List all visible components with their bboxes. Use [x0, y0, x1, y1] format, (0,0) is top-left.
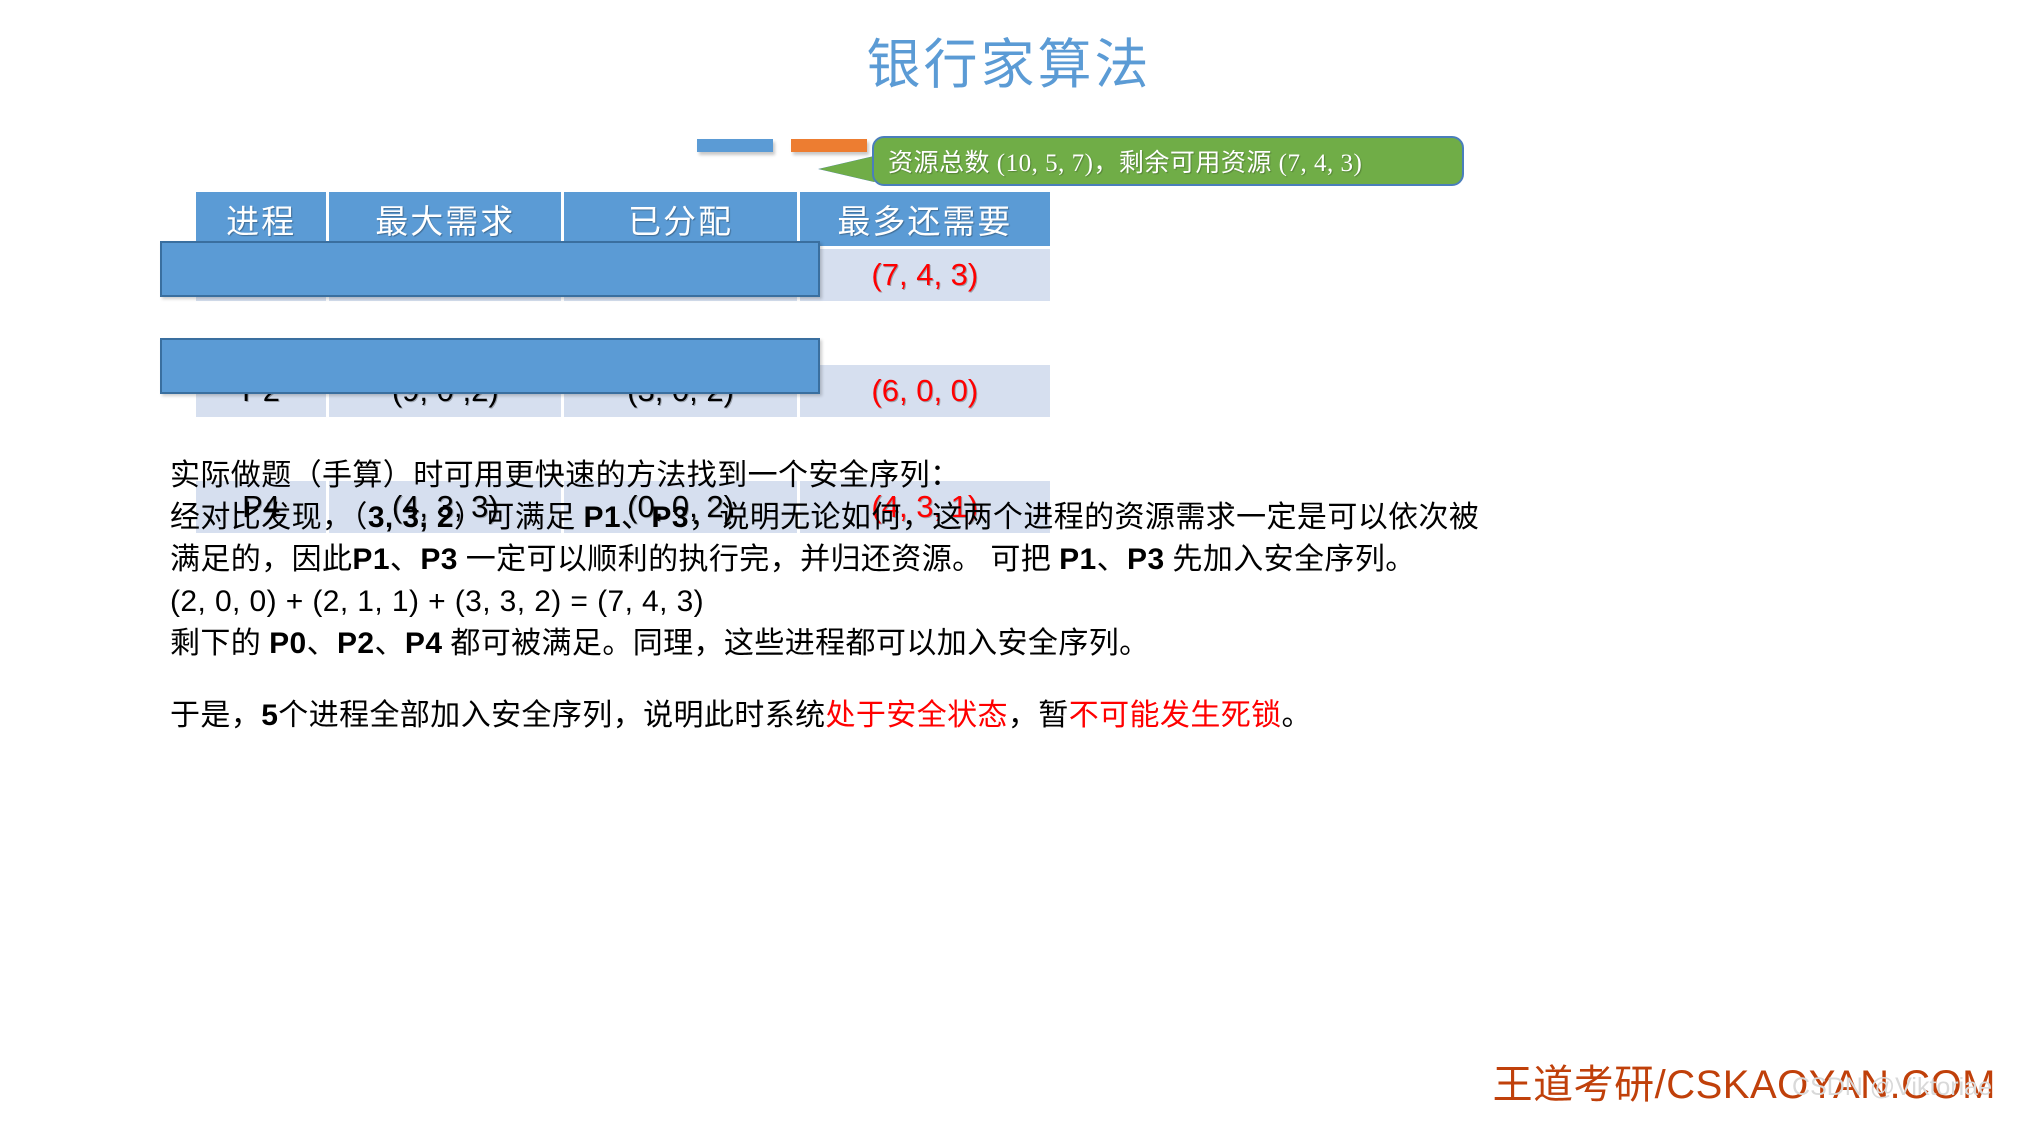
callout-text: 资源总数 (10, 5, 7)，剩余可用资源 (7, 4, 3): [888, 143, 1362, 179]
body-line-6-safe-state: 处于安全状态: [826, 699, 1008, 732]
body-line-4-equation: (2, 0, 0) + (2, 1, 1) + (3, 3, 2) = (7, …: [170, 585, 704, 618]
body-line-3-g: 、: [1097, 543, 1127, 576]
csdn-watermark: CSDN @Viktoriae: [1792, 1073, 1992, 1102]
table-header-row: 进程 最大需求 已分配 最多还需要: [196, 192, 1050, 246]
column-header-process: 进程: [196, 192, 326, 246]
body-line-2-p3: P3: [651, 501, 689, 534]
body-line-5-p0: P0: [269, 627, 307, 660]
body-line-6-a: 于是，: [170, 699, 261, 732]
column-header-allocated: 已分配: [564, 192, 796, 246]
cover-rectangle-p3: [160, 338, 820, 394]
body-line-6: 于是，5个进程全部加入安全序列，说明此时系统处于安全状态，暂不可能发生死锁。: [170, 695, 1870, 737]
column-header-max-need: 最大需求: [329, 192, 561, 246]
body-line-6-count: 5: [261, 699, 278, 732]
body-line-6-e: ，暂: [1008, 699, 1069, 732]
body-line-6-no-deadlock: 不可能发生死锁: [1069, 699, 1282, 732]
body-line-2-g: ，说明无论如何，这两个进程的资源需求一定是可以依次被: [689, 501, 1479, 534]
accent-bar-blue-light: [697, 139, 773, 152]
cell-still-needed: (6, 0, 0): [800, 365, 1050, 417]
body-line-5: 剩下的 P0、P2、P4 都可被满足。同理，这些进程都可以加入安全序列。: [170, 623, 1870, 665]
body-line-3-e: 一定可以顺利的执行完，并归还资源。 可把: [458, 543, 1059, 576]
body-line-3-p1b: P1: [1059, 543, 1097, 576]
body-line-3-p1: P1: [352, 543, 390, 576]
body-line-3: 满足的，因此P1、P3 一定可以顺利的执行完，并归还资源。 可把 P1、P3 先…: [170, 539, 1870, 581]
body-line-2-e: 、: [621, 501, 651, 534]
body-line-2-p1: P1: [584, 501, 622, 534]
body-line-2-vector: 3, 3, 2: [368, 501, 454, 534]
page-title: 银行家算法: [0, 36, 2018, 95]
body-line-5-c: 、: [307, 627, 337, 660]
body-line-1: 实际做题（手算）时可用更快速的方法找到一个安全序列：: [170, 455, 1870, 497]
body-line-3-c: 、: [390, 543, 420, 576]
body-line-1-text: 实际做题（手算）时可用更快速的方法找到一个安全序列：: [170, 459, 960, 492]
body-line-5-e: 、: [375, 627, 405, 660]
body-line-2-a: 经对比发现，（: [170, 501, 368, 534]
body-line-3-a: 满足的，因此: [170, 543, 352, 576]
body-line-5-g: 都可被满足。同理，这些进程都可以加入安全序列。: [442, 627, 1149, 660]
resource-total-callout: 资源总数 (10, 5, 7)，剩余可用资源 (7, 4, 3): [872, 136, 1464, 186]
accent-bar-orange: [791, 139, 867, 152]
body-line-5-p4: P4: [405, 627, 443, 660]
body-line-4: (2, 0, 0) + (2, 1, 1) + (3, 3, 2) = (7, …: [170, 581, 1870, 623]
body-line-5-p2: P2: [337, 627, 375, 660]
explanation-text-block: 实际做题（手算）时可用更快速的方法找到一个安全序列： 经对比发现，（3, 3, …: [170, 455, 1870, 737]
body-spacer: [170, 665, 1870, 695]
body-line-3-p3: P3: [420, 543, 458, 576]
body-line-6-g: 。: [1282, 699, 1312, 732]
body-line-3-i: 先加入安全序列。: [1165, 543, 1416, 576]
body-line-2-c: ）可满足: [454, 501, 584, 534]
body-line-5-a: 剩下的: [170, 627, 269, 660]
callout-tail: [819, 156, 875, 182]
cell-still-needed: (7, 4, 3): [800, 249, 1050, 301]
body-line-6-c: 个进程全部加入安全序列，说明此时系统: [278, 699, 825, 732]
cover-rectangle-p1: [160, 241, 820, 297]
body-line-3-p3b: P3: [1127, 543, 1165, 576]
column-header-still-needed: 最多还需要: [800, 192, 1050, 246]
body-line-2: 经对比发现，（3, 3, 2）可满足 P1、P3，说明无论如何，这两个进程的资源…: [170, 497, 1870, 539]
